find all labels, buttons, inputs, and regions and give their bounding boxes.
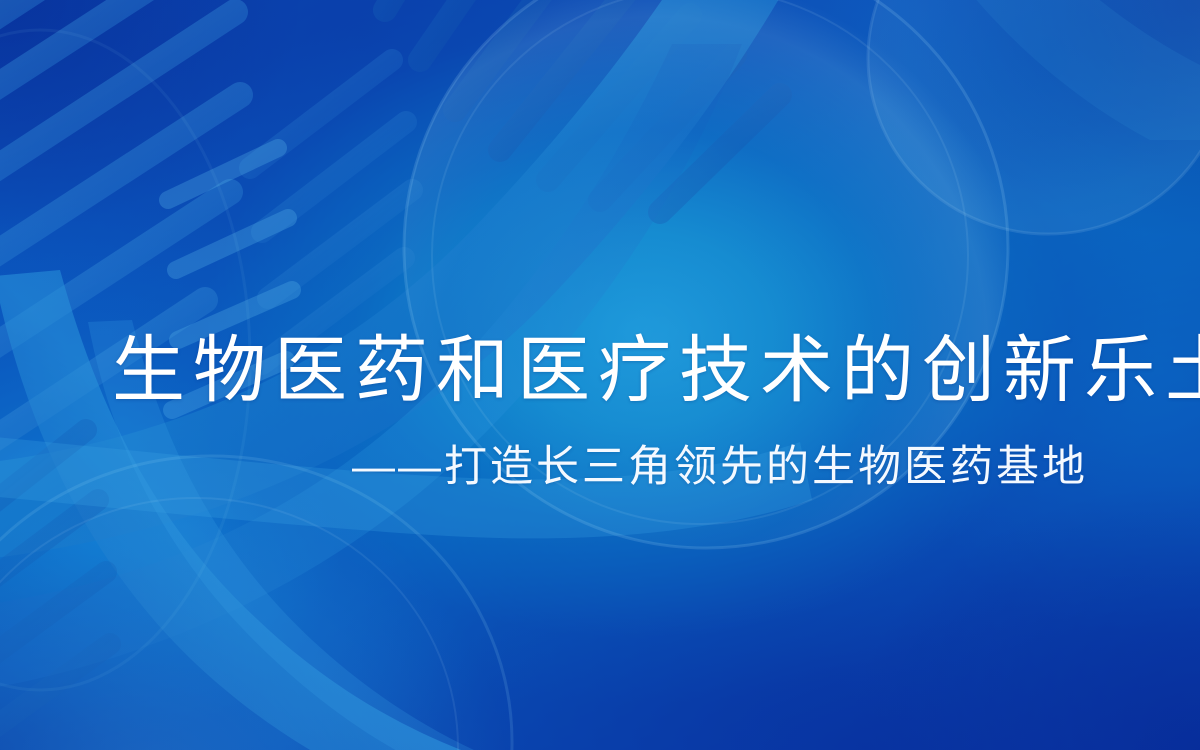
page-title: 生物医药和医疗技术的创新乐土 bbox=[112, 331, 1092, 411]
biomedical-banner: 生物医药和医疗技术的创新乐土 ——打造长三角领先的生物医药基地 bbox=[0, 0, 1200, 750]
page-subtitle: ——打造长三角领先的生物医药基地 bbox=[120, 438, 1088, 496]
banner-text-block: 生物医药和医疗技术的创新乐土 ——打造长三角领先的生物医药基地 bbox=[0, 0, 1200, 750]
